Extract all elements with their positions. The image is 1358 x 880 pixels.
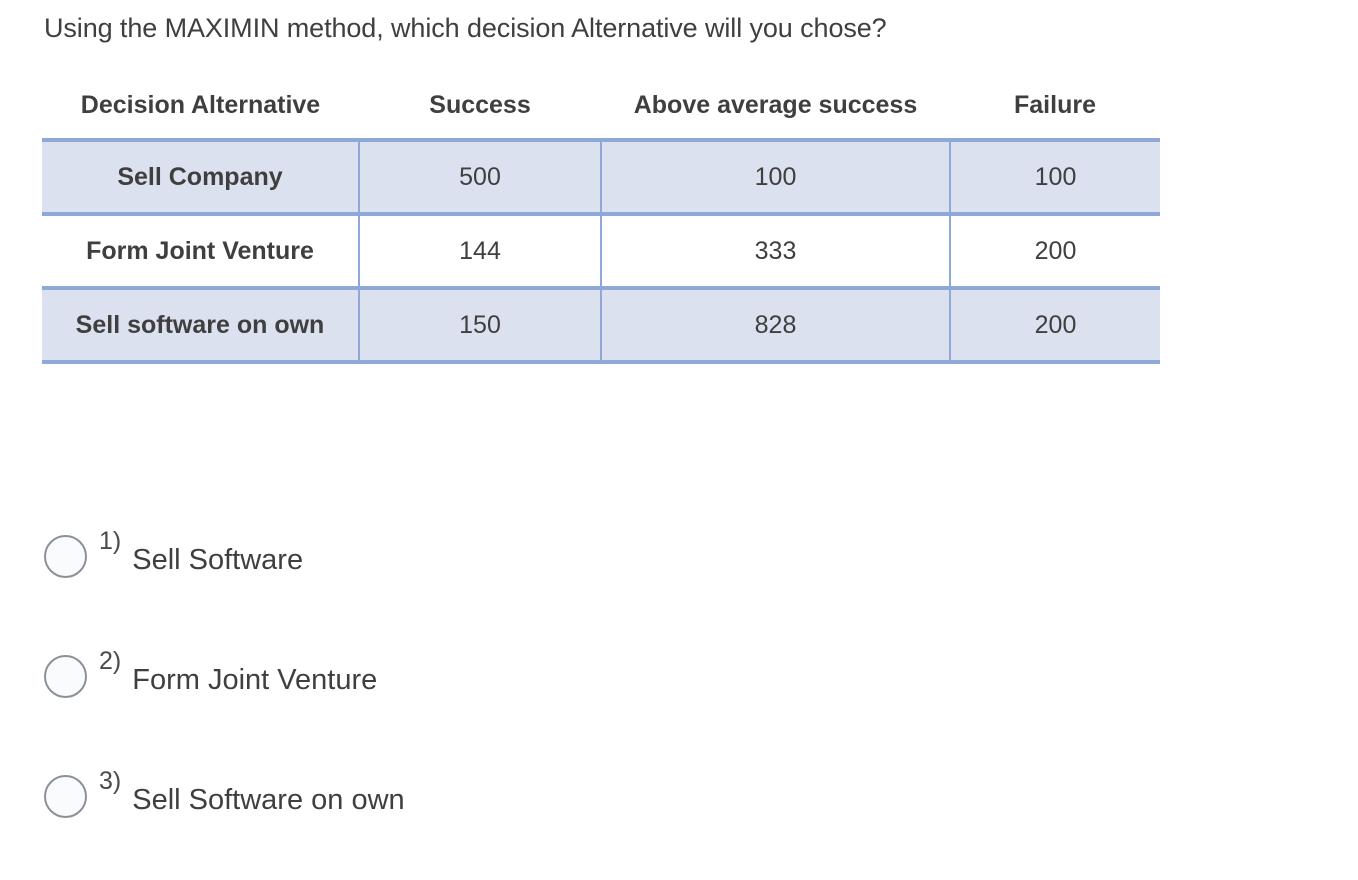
- row-label-form-joint-venture: Form Joint Venture: [42, 214, 359, 288]
- column-header-above-average-success: Above average success: [601, 76, 950, 140]
- cell-sell-company-failure: 100: [950, 140, 1160, 214]
- option-label-3[interactable]: Sell Software on own: [132, 782, 404, 818]
- cell-sell-software-success: 150: [359, 288, 601, 362]
- row-label-sell-company: Sell Company: [42, 140, 359, 214]
- cell-sell-software-above-average: 828: [601, 288, 950, 362]
- table-row: Form Joint Venture 144 333 200: [42, 214, 1160, 288]
- question-prompt: Using the MAXIMIN method, which decision…: [44, 10, 1324, 46]
- option-label-2[interactable]: Form Joint Venture: [132, 662, 377, 698]
- cell-sell-software-failure: 200: [950, 288, 1160, 362]
- answer-options-list: 1) Sell Software 2) Form Joint Venture 3…: [44, 520, 1244, 880]
- table-header-row: Decision Alternative Success Above avera…: [42, 76, 1160, 140]
- radio-button-icon-option-1[interactable]: [44, 535, 87, 578]
- option-number-1: 1): [99, 528, 121, 554]
- table-row: Sell Company 500 100 100: [42, 140, 1160, 214]
- cell-form-joint-venture-above-average: 333: [601, 214, 950, 288]
- option-number-2: 2): [99, 648, 121, 674]
- cell-sell-company-above-average: 100: [601, 140, 950, 214]
- answer-option-1[interactable]: 1) Sell Software: [44, 520, 1244, 592]
- option-number-3: 3): [99, 768, 121, 794]
- answer-option-3[interactable]: 3) Sell Software on own: [44, 760, 1244, 832]
- answer-option-2[interactable]: 2) Form Joint Venture: [44, 640, 1244, 712]
- option-label-1[interactable]: Sell Software: [132, 542, 303, 578]
- cell-sell-company-success: 500: [359, 140, 601, 214]
- table-row: Sell software on own 150 828 200: [42, 288, 1160, 362]
- radio-button-icon-option-2[interactable]: [44, 655, 87, 698]
- column-header-success: Success: [359, 76, 601, 140]
- cell-form-joint-venture-success: 144: [359, 214, 601, 288]
- radio-button-icon-option-3[interactable]: [44, 775, 87, 818]
- table-header: Decision Alternative Success Above avera…: [42, 76, 1160, 140]
- table-body: Sell Company 500 100 100 Form Joint Vent…: [42, 140, 1160, 362]
- column-header-decision-alternative: Decision Alternative: [42, 76, 359, 140]
- row-label-sell-software-on-own: Sell software on own: [42, 288, 359, 362]
- column-header-failure: Failure: [950, 76, 1160, 140]
- decision-payoff-table: Decision Alternative Success Above avera…: [42, 76, 1160, 364]
- cell-form-joint-venture-failure: 200: [950, 214, 1160, 288]
